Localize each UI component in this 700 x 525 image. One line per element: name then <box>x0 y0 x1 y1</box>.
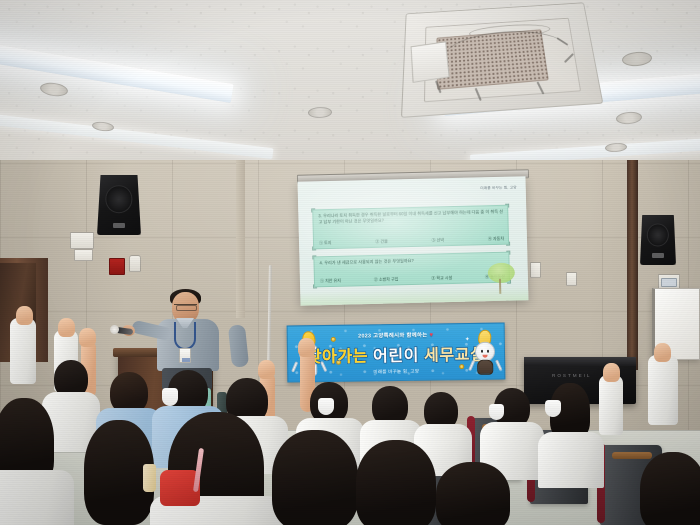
eyeglasses-icon <box>174 304 197 309</box>
student-head-foreground <box>436 462 510 525</box>
student-body <box>538 432 604 488</box>
wall-speaker-left <box>97 175 141 235</box>
raised-arm-sleeve <box>599 375 623 435</box>
event-banner: ✦ ✦ 2023 고양특례시와 함께하는♥ 찾아가는 어린이 세무교실 미래를 … <box>287 322 506 382</box>
fire-alarm-pull-station-icon[interactable] <box>109 258 125 275</box>
ac-wire <box>444 28 569 58</box>
raised-hand <box>16 306 33 325</box>
speaker-badge <box>652 253 664 258</box>
wall-switch-plate[interactable] <box>530 262 541 278</box>
banner-top-text: 2023 고양특례시와 함께하는 <box>358 333 427 340</box>
wall-switch-plate[interactable] <box>74 249 93 261</box>
ceiling <box>0 0 700 185</box>
option: ① 치안 유지 <box>320 278 341 285</box>
option: ③ 학교 시설 <box>431 275 452 282</box>
ac-clip <box>536 81 544 94</box>
wall-pillar-right <box>627 160 638 370</box>
question-options: ① 치안 유지 ② 소방차 구입 ③ 학교 시설 ④ 놀이동산 <box>320 274 505 285</box>
option: ④ 자동차 <box>488 236 504 242</box>
ac-control-panel <box>411 41 450 83</box>
auditorium-photo: 미래를 바꾸는 힘, 고양 3. 우리나라 토지 취득한 경우 취득한 날로부터… <box>0 0 700 525</box>
face-mask-icon <box>545 400 561 417</box>
ac-body <box>424 18 581 103</box>
corner-mark-icon <box>506 251 510 255</box>
speaker-cone-icon <box>105 185 132 213</box>
corner-mark-icon <box>506 242 510 246</box>
option: ② 소방차 구입 <box>374 276 399 283</box>
seat-armrest <box>612 452 652 459</box>
speaker-cone-icon <box>647 224 669 247</box>
face-mask-icon <box>489 404 504 420</box>
face-mask-icon <box>162 388 178 406</box>
mascot-body <box>477 360 493 375</box>
lanyard <box>174 322 196 350</box>
raised-hand <box>654 343 671 362</box>
outlet-socket-icon <box>661 278 677 287</box>
alarm-bell-icon <box>129 255 141 272</box>
slide-logo-text: 미래를 바꾸는 힘, 고양 <box>480 185 516 191</box>
option: ② 건물 <box>375 239 388 245</box>
face-mask-icon <box>318 398 334 415</box>
option: ③ 선박 <box>431 237 444 243</box>
corner-mark-icon <box>312 246 316 250</box>
banner-title-part-1: 찾아가는 <box>307 348 369 366</box>
ceiling-cassette-air-conditioner <box>401 2 603 118</box>
raised-hand <box>298 338 315 357</box>
raised-hand <box>603 363 620 382</box>
wall-switch-plate[interactable] <box>566 272 577 286</box>
presenter <box>148 292 244 384</box>
mascot-mouth-icon <box>483 355 488 358</box>
wall-switch-plate[interactable] <box>70 232 94 249</box>
slide-question-box: 4. 우리가 낸 세금으로 사용되지 않는 것은 무엇일까요? ① 치안 유지 … <box>313 252 510 288</box>
student-head-foreground <box>640 452 700 525</box>
question-text: 3. 우리나라 토지 취득한 경우 취득한 날로부터 60일 이내 취득세를 신… <box>318 209 503 225</box>
banner-title-part-2: 어린이 <box>373 348 419 366</box>
corner-mark-icon <box>505 204 509 208</box>
question-text: 4. 우리가 낸 세금으로 사용되지 않는 것은 무엇일까요? <box>319 256 504 266</box>
corner-mark-icon <box>312 255 316 259</box>
ac-clip <box>564 53 574 63</box>
corner-mark-icon <box>311 208 315 212</box>
microphone-head-icon <box>110 325 119 334</box>
mascot-eye-icon <box>487 350 489 353</box>
raised-arm-sleeve <box>648 355 678 425</box>
slide-question-box: 3. 우리나라 토지 취득한 경우 취득한 날로부터 60일 이내 취득세를 신… <box>312 205 509 250</box>
mascot-character-right <box>471 332 500 374</box>
heart-icon: ♥ <box>429 332 433 338</box>
projection-screen: 미래를 바꾸는 힘, 고양 3. 우리나라 토지 취득한 경우 취득한 날로부터… <box>298 176 529 306</box>
mascot-eye-icon <box>481 350 483 353</box>
student-head-foreground <box>272 430 358 525</box>
raised-hand <box>58 318 75 337</box>
tree-canopy <box>488 263 515 284</box>
student-body <box>0 470 74 525</box>
student-head-foreground <box>356 440 436 525</box>
wall-speaker-right <box>640 215 676 265</box>
piano-lid <box>524 357 636 366</box>
corner-mark-icon <box>313 284 317 288</box>
raised-hand <box>258 360 275 379</box>
raised-arm-sleeve <box>10 318 36 384</box>
ac-clip <box>475 88 482 101</box>
option: ① 토지 <box>319 240 332 246</box>
raised-hand <box>79 328 96 347</box>
water-bottle <box>143 464 156 492</box>
piano-brand-label: ROSTMEIL <box>552 373 591 378</box>
id-badge <box>179 348 191 363</box>
speaker-badge <box>113 223 125 228</box>
question-options: ① 토지 ② 건물 ③ 선박 ④ 자동차 <box>319 236 504 247</box>
